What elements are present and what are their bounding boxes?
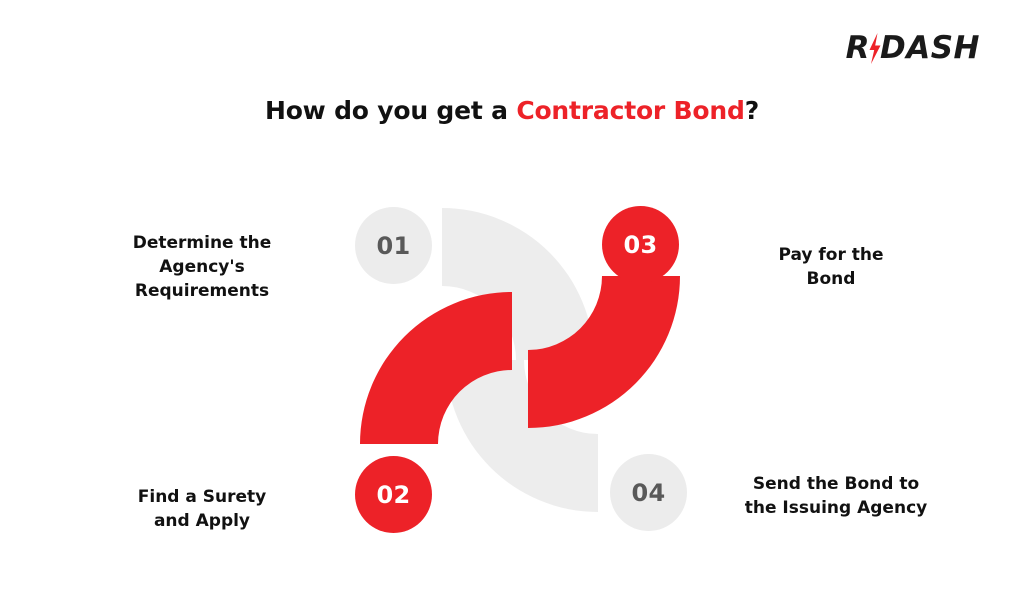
step-label-04: Send the Bond to the Issuing Agency: [716, 472, 956, 520]
lightning-bolt-icon: [867, 33, 882, 63]
step-circle-03[interactable]: 03: [602, 206, 679, 283]
step-label-01: Determine the Agency's Requirements: [96, 231, 308, 303]
title-suffix: ?: [745, 96, 759, 125]
title-prefix: How do you get a: [265, 96, 516, 125]
step-circle-02[interactable]: 02: [355, 456, 432, 533]
step-label-03: Pay for the Bond: [722, 243, 940, 291]
step-circle-04[interactable]: 04: [610, 454, 687, 531]
brand-logo: R DASH: [846, 28, 980, 68]
infographic-canvas: R DASH How do you get a Contractor Bond?: [0, 0, 1024, 614]
step-circle-01[interactable]: 01: [355, 207, 432, 284]
title-highlight: Contractor Bond: [516, 96, 744, 125]
logo-word-dash: DASH: [880, 33, 980, 64]
page-title: How do you get a Contractor Bond?: [0, 96, 1024, 125]
step-label-02: Find a Surety and Apply: [96, 485, 308, 533]
